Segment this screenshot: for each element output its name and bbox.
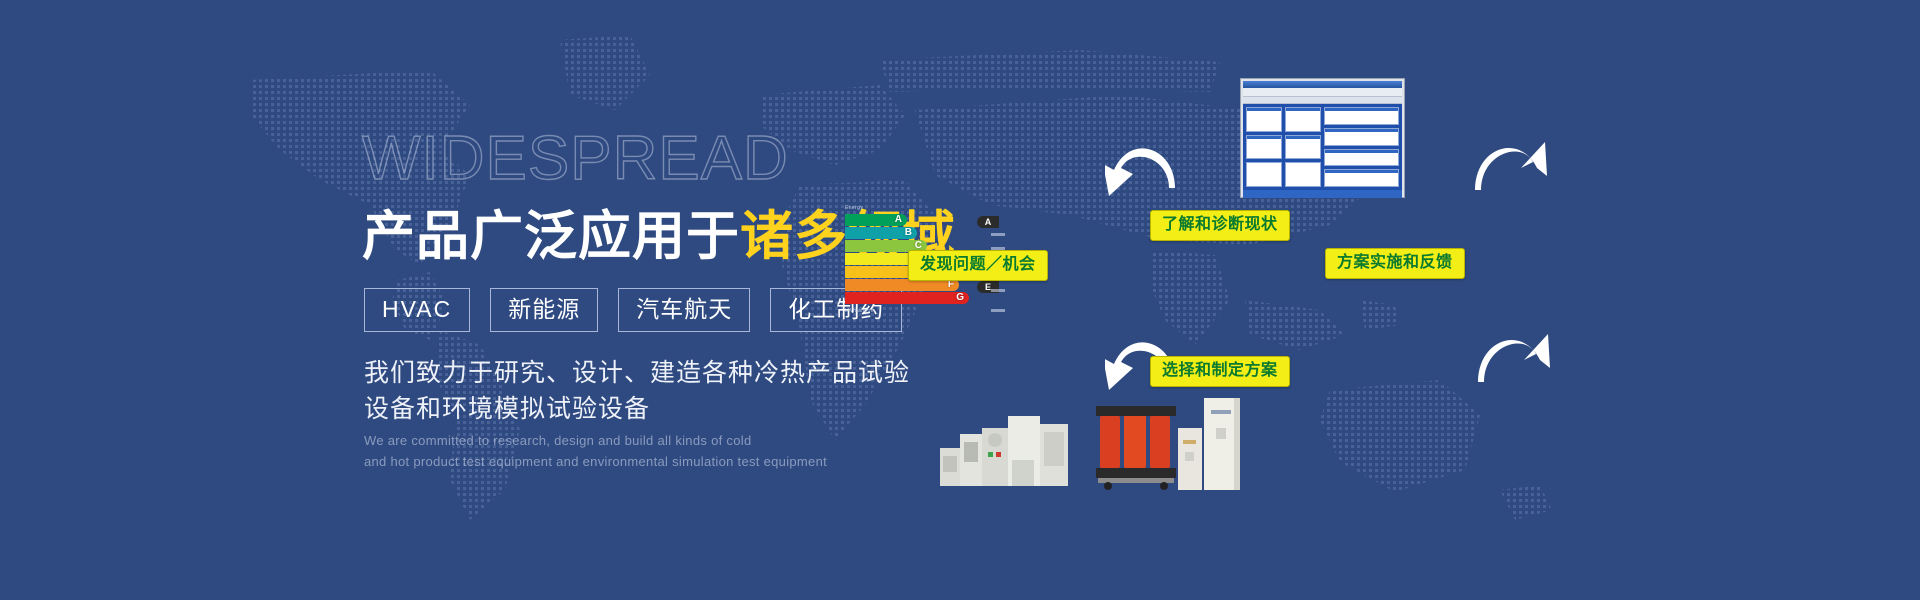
monitor-pane [1324,107,1399,125]
monitor-pane [1285,135,1321,160]
monitor-workspace [1243,104,1402,190]
description-english: We are committed to research, design and… [364,430,827,473]
monitor-pane-row [1246,162,1321,187]
energy-bar-g-label: G [956,293,969,303]
energy-chart-caption-top: Energy [845,205,1005,214]
ghost-headline: WIDESPREAD [362,128,789,190]
monitor-pane-row [1246,107,1321,132]
energy-bar-b: B [845,227,917,239]
monitor-pane [1324,149,1399,167]
monitor-pane [1246,107,1282,132]
curved-arrow-up-icon [1478,322,1550,392]
energy-bar-f-label: F [948,280,959,290]
monitor-pane [1246,135,1282,160]
monitor-titlebar [1243,81,1402,88]
monitor-pane [1246,162,1282,187]
monitor-left-column [1246,107,1321,187]
monitor-pane [1324,169,1399,187]
tag-new-energy[interactable]: 新能源 [490,288,598,332]
energy-bar-b-label: B [905,228,917,238]
monitor-taskbar [1243,190,1402,198]
software-screenshot-icon [1240,78,1405,198]
headline-white: 产品广泛应用于 [362,207,740,266]
tag-automotive-aerospace[interactable]: 汽车航天 [618,288,750,332]
curved-arrow-up-icon [1475,130,1547,200]
red-transformer-photo [1092,398,1187,490]
monitor-menubar [1243,88,1402,97]
monitor-right-column [1324,107,1399,187]
white-cabinet-photo [1178,388,1240,490]
hero-banner: WIDESPREAD 产品广泛应用于诸多领域 HVAC 新能源 汽车航天 化工制… [0,0,1920,600]
curved-arrow-down-icon [1105,136,1177,206]
label-select-plan[interactable]: 选择和制定方案 [1150,356,1290,387]
industry-tag-list: HVAC 新能源 汽车航天 化工制药 [364,288,902,332]
process-cycle-diagram: Energy A B C D E F G A E kWh/annum [900,0,1920,600]
label-discover-problem[interactable]: 发现问题／机会 [908,250,1048,281]
energy-bar-a-label: A [895,215,907,225]
monitor-toolbar [1243,97,1402,104]
monitor-pane-row [1246,135,1321,160]
monitor-pane [1324,128,1399,146]
energy-bar-a: A [845,214,907,226]
label-implement-feedback[interactable]: 方案实施和反馈 [1325,248,1465,279]
description-chinese: 我们致力于研究、设计、建造各种冷热产品试验 设备和环境模拟试验设备 [364,356,910,427]
tag-hvac[interactable]: HVAC [364,288,470,332]
energy-bar-g: G [845,292,969,304]
label-diagnose-status[interactable]: 了解和诊断现状 [1150,210,1290,241]
industrial-drives-photo [940,408,1068,486]
monitor-pane [1285,107,1321,132]
monitor-pane [1285,162,1321,187]
